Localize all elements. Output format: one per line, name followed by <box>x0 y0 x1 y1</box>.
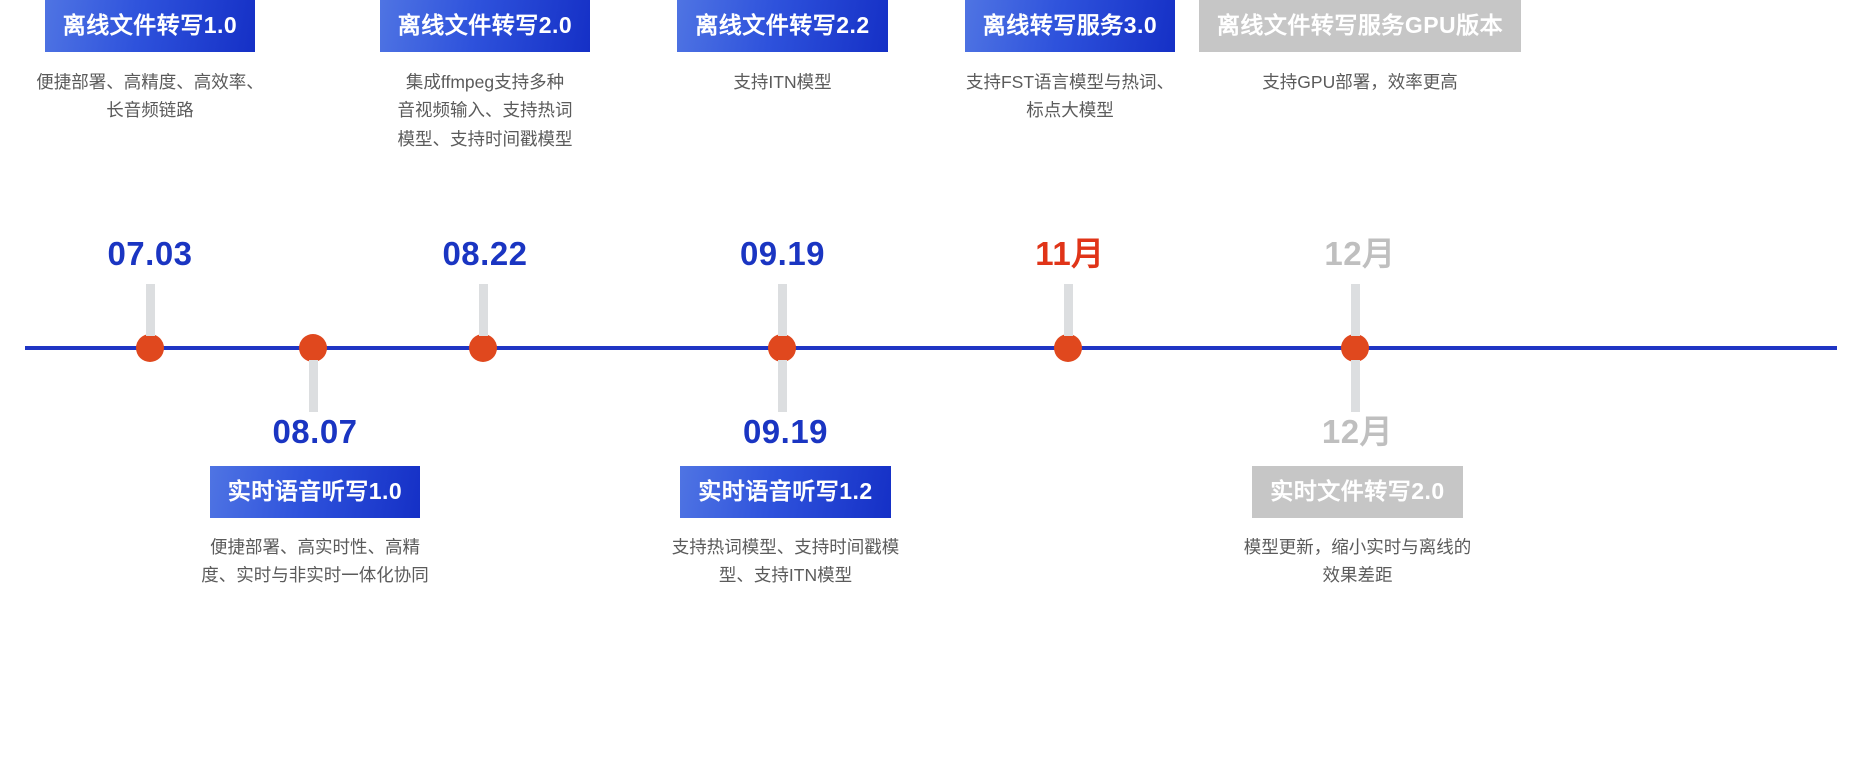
milestone-description: 支持ITN模型 <box>653 68 913 96</box>
connector-stub-top-2 <box>479 284 488 336</box>
milestone-date: 08.07 <box>175 415 455 448</box>
milestone-description: 便捷部署、高实时性、高精 度、实时与非实时一体化协同 <box>180 533 450 590</box>
milestone-badge[interactable]: 实时语音听写1.0 <box>210 466 420 518</box>
connector-stub-bottom-1 <box>309 360 318 412</box>
milestone-date: 09.19 <box>643 415 928 448</box>
milestone-badge[interactable]: 离线文件转写服务GPU版本 <box>1199 0 1521 52</box>
milestone-description: 支持FST语言模型与热词、 标点大模型 <box>939 68 1201 125</box>
milestone-top-1: 离线文件转写1.0 便捷部署、高精度、高效率、 长音频链路 07.03 <box>10 0 290 125</box>
milestone-badge[interactable]: 离线转写服务3.0 <box>965 0 1175 52</box>
connector-stub-top-4 <box>1064 284 1073 336</box>
timeline-dot-4[interactable] <box>768 334 796 362</box>
milestone-date: 12月 <box>1215 415 1500 448</box>
connector-stub-bottom-3 <box>1351 360 1360 412</box>
milestone-bottom-3: 12月 实时文件转写2.0 模型更新，缩小实时与离线的 效果差距 <box>1215 415 1500 590</box>
milestone-description: 便捷部署、高精度、高效率、 长音频链路 <box>20 68 280 125</box>
connector-stub-top-3 <box>778 284 787 336</box>
timeline-axis <box>25 346 1837 350</box>
timeline-diagram: 离线文件转写1.0 便捷部署、高精度、高效率、 长音频链路 07.03 离线文件… <box>0 0 1856 770</box>
milestone-description: 支持GPU部署，效率更高 <box>1200 68 1520 96</box>
timeline-dot-1[interactable] <box>136 334 164 362</box>
milestone-badge[interactable]: 离线文件转写2.0 <box>380 0 590 52</box>
connector-stub-top-1 <box>146 284 155 336</box>
milestone-description: 集成ffmpeg支持多种 音视频输入、支持热词 模型、支持时间戳模型 <box>370 68 600 153</box>
milestone-bottom-2: 09.19 实时语音听写1.2 支持热词模型、支持时间戳模 型、支持ITN模型 <box>643 415 928 590</box>
connector-stub-bottom-2 <box>778 360 787 412</box>
milestone-date: 12月 <box>1195 237 1525 270</box>
timeline-dot-5[interactable] <box>1054 334 1082 362</box>
milestone-date: 09.19 <box>645 237 920 270</box>
milestone-bottom-1: 08.07 实时语音听写1.0 便捷部署、高实时性、高精 度、实时与非实时一体化… <box>175 415 455 590</box>
milestone-badge[interactable]: 实时语音听写1.2 <box>680 466 890 518</box>
milestone-top-2: 离线文件转写2.0 集成ffmpeg支持多种 音视频输入、支持热词 模型、支持时… <box>345 0 625 153</box>
milestone-date: 11月 <box>930 237 1210 270</box>
timeline-dot-2[interactable] <box>299 334 327 362</box>
milestone-top-4: 离线转写服务3.0 支持FST语言模型与热词、 标点大模型 11月 <box>930 0 1210 125</box>
milestone-top-3: 离线文件转写2.2 支持ITN模型 09.19 <box>645 0 920 96</box>
timeline-dot-3[interactable] <box>469 334 497 362</box>
timeline-dot-6[interactable] <box>1341 334 1369 362</box>
milestone-description: 模型更新，缩小实时与离线的 效果差距 <box>1218 533 1498 590</box>
milestone-top-5: 离线文件转写服务GPU版本 支持GPU部署，效率更高 12月 <box>1195 0 1525 96</box>
milestone-badge[interactable]: 离线文件转写2.2 <box>677 0 887 52</box>
milestone-badge[interactable]: 实时文件转写2.0 <box>1252 466 1462 518</box>
milestone-description: 支持热词模型、支持时间戳模 型、支持ITN模型 <box>646 533 926 590</box>
milestone-date: 08.22 <box>345 237 625 270</box>
milestone-badge[interactable]: 离线文件转写1.0 <box>45 0 255 52</box>
milestone-date: 07.03 <box>10 237 290 270</box>
connector-stub-top-5 <box>1351 284 1360 336</box>
